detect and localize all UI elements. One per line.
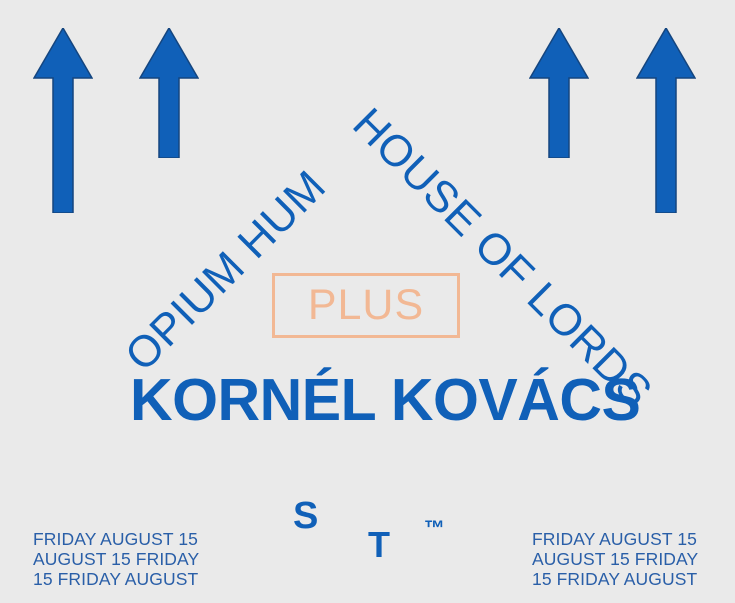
arrow-up-icon [33, 28, 93, 213]
date-line: 15 FRIDAY AUGUST [33, 570, 199, 590]
date-line: 15 FRIDAY AUGUST [532, 570, 698, 590]
trademark-glyph: ™ [424, 518, 445, 539]
date-block-left: FRIDAY AUGUST 15 AUGUST 15 FRIDAY 15 FRI… [33, 530, 199, 589]
headliner-title: KORNÉL KOVÁCS [130, 371, 640, 430]
date-line: FRIDAY AUGUST 15 [532, 530, 698, 550]
glyph-s: S [293, 497, 318, 535]
plus-badge: PLUS [272, 273, 460, 338]
plus-label: PLUS [308, 284, 424, 327]
date-line: FRIDAY AUGUST 15 [33, 530, 199, 550]
arrow-up-icon [139, 28, 199, 158]
date-block-right: FRIDAY AUGUST 15 AUGUST 15 FRIDAY 15 FRI… [532, 530, 698, 589]
date-line: AUGUST 15 FRIDAY [33, 550, 199, 570]
date-line: AUGUST 15 FRIDAY [532, 550, 698, 570]
arrow-up-icon [636, 28, 696, 213]
arrow-up-icon [529, 28, 589, 158]
poster-canvas: OPIUM HUM HOUSE OF LORDS PLUS KORNÉL KOV… [0, 0, 735, 603]
support-act-left: OPIUM HUM [118, 163, 334, 379]
glyph-t: T [368, 527, 390, 563]
